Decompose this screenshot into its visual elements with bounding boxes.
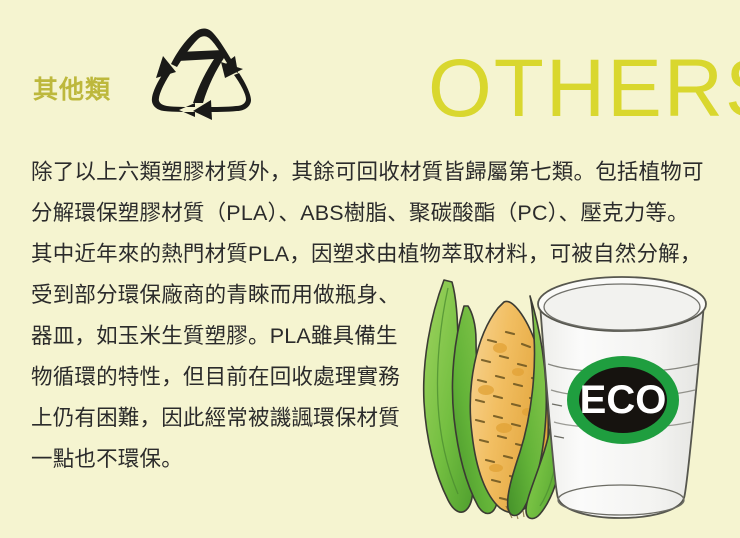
- body-text-line: 其中近年來的熱門材質PLA，因塑求由植物萃取材料，可被自然分解，: [31, 234, 721, 275]
- page-title: OTHERS: [428, 48, 740, 130]
- eco-badge-label: ECO: [580, 378, 667, 422]
- header: 其他類: [0, 0, 740, 140]
- plastic-cup-illustration: ECO: [528, 272, 723, 524]
- body-text-line: 分解環保塑膠材質（PLA）、ABS樹脂、聚碳酸酯（PC）、壓克力等。: [31, 193, 721, 234]
- recycle-triangle-icon: [143, 18, 261, 123]
- category-label: 其他類: [33, 78, 111, 103]
- infographic-page: 其他類: [0, 0, 740, 538]
- body-text-line: 除了以上六類塑膠材質外，其餘可回收材質皆歸屬第七類。包括植物可: [31, 152, 721, 193]
